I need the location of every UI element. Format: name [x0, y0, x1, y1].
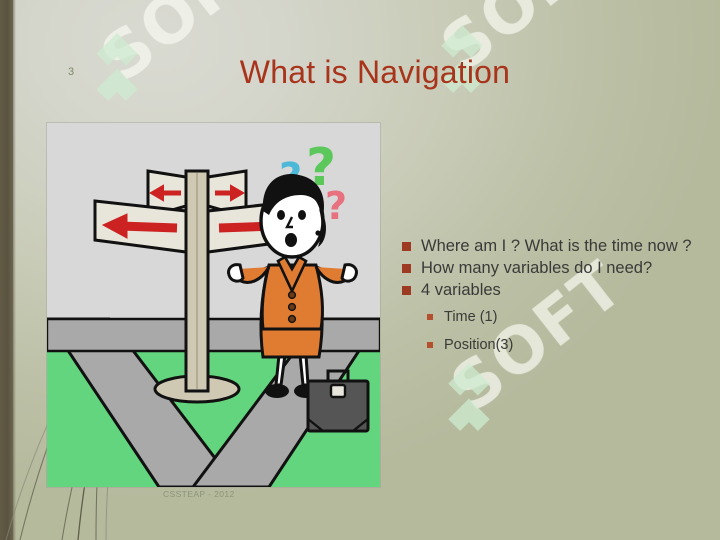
bullet-marker-icon — [402, 264, 411, 273]
list-item: How many variables do I need? — [402, 258, 702, 279]
sub-bullet-marker-icon — [427, 342, 433, 348]
jacket-button — [289, 316, 296, 323]
woman-eye-left — [277, 210, 285, 220]
question-mark-pink-icon: ? — [325, 184, 347, 228]
list-item: Time (1) — [427, 308, 702, 326]
woman-hand-left — [229, 265, 243, 282]
woman-eye-right — [298, 210, 306, 220]
bullet-text: 4 variables — [421, 280, 501, 301]
crossroads-illustration: ? ? ? — [47, 123, 380, 487]
slide-number: 3 — [68, 66, 74, 78]
woman-hand-right — [342, 265, 356, 282]
list-item: 4 variables — [402, 280, 702, 301]
woman-mouth — [285, 233, 297, 247]
jacket-button — [289, 304, 296, 311]
presentation-slide: SOFT SOFT SOFT — [0, 0, 720, 540]
content-bullet-list: Where am I ? What is the time now ? How … — [402, 236, 702, 364]
slide-footer: CSSTEAP - 2012 — [163, 489, 235, 499]
list-item: Position(3) — [427, 336, 702, 354]
bullet-text: Where am I ? What is the time now ? — [421, 236, 692, 257]
briefcase — [308, 371, 368, 431]
sub-bullet-marker-icon — [427, 314, 433, 320]
woman-earring — [315, 230, 320, 235]
jacket-button — [289, 292, 296, 299]
page-title: What is Navigation — [110, 54, 640, 91]
left-decorative-band — [0, 0, 13, 540]
signpost-pole — [186, 171, 208, 391]
briefcase-latch — [331, 385, 345, 397]
sub-bullet-text: Position(3) — [444, 336, 513, 354]
bullet-text: How many variables do I need? — [421, 258, 652, 279]
bullet-marker-icon — [402, 286, 411, 295]
sub-bullet-text: Time (1) — [444, 308, 497, 326]
slide-image-crossroads: ? ? ? — [47, 123, 380, 487]
left-band-edge — [13, 0, 16, 540]
bullet-marker-icon — [402, 242, 411, 251]
content-sub-bullet-list: Time (1) Position(3) — [427, 308, 702, 354]
list-item: Where am I ? What is the time now ? — [402, 236, 702, 257]
